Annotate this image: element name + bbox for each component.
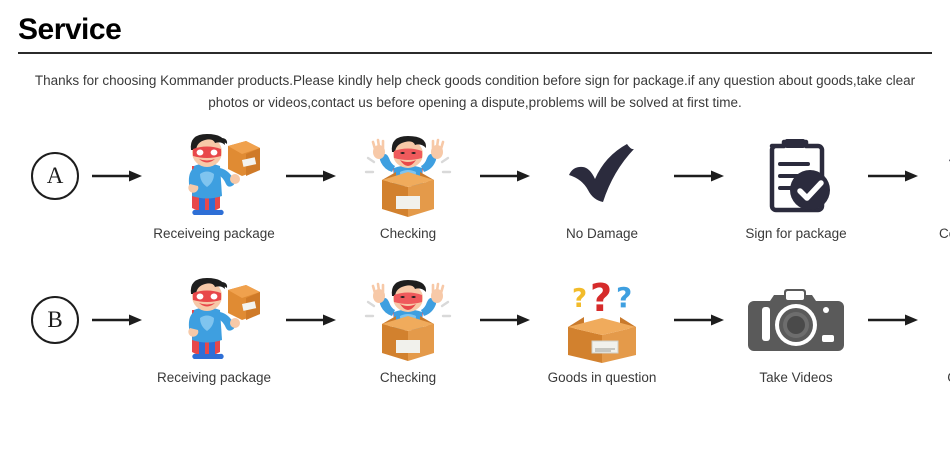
camera-icon — [730, 274, 862, 366]
flow-step-label: Sign for package — [745, 226, 846, 243]
flow-step: Sign for package — [730, 130, 862, 243]
row-a-badge-cell: A — [24, 130, 86, 222]
flow-step-label: Checking — [380, 370, 436, 387]
flow-step: Checking — [342, 274, 474, 387]
service-flow-diagram: A — [0, 130, 950, 406]
flow-step: Checking — [342, 130, 474, 243]
handshake-icon — [924, 130, 950, 222]
superhero-with-box-icon — [148, 130, 280, 222]
intro-paragraph: Thanks for choosing Kommander products.P… — [30, 70, 920, 115]
page-header: Service — [0, 0, 950, 46]
arrow-icon — [862, 274, 924, 366]
flow-step-label: Take Videos — [759, 370, 832, 387]
box-with-question-marks-icon: ? ? ? — [536, 274, 668, 366]
arrow-icon — [474, 130, 536, 222]
flow-step-label: Checking — [380, 226, 436, 243]
arrow-icon — [668, 130, 730, 222]
title-divider — [18, 52, 932, 54]
flow-step: Receiveing package — [148, 130, 280, 243]
arrow-icon — [86, 274, 148, 366]
flow-step: $ $ — [924, 274, 950, 404]
flow-step: Receiving package — [148, 274, 280, 387]
flow-step-label: Receiving package — [157, 370, 271, 387]
arrow-icon — [668, 274, 730, 366]
row-b-badge-cell: B — [24, 274, 86, 366]
intro-line-1: Thanks for choosing Kommander products.P… — [35, 73, 812, 88]
arrow-icon — [280, 130, 342, 222]
arrow-icon — [862, 130, 924, 222]
arrow-icon — [86, 130, 148, 222]
flow-step-label: Goods in question — [548, 370, 657, 387]
flow-row-b: B — [0, 274, 950, 406]
checkmark-icon — [536, 130, 668, 222]
svg-text:?: ? — [616, 281, 632, 314]
flow-step: Confirm the delivery — [924, 130, 950, 243]
row-badge-b: B — [31, 296, 79, 344]
flow-step-label: Receiveing package — [153, 226, 275, 243]
flow-step-label: Confirm the delivery — [939, 226, 950, 243]
page-title: Service — [18, 14, 950, 46]
support-agent-money-icon: $ $ — [924, 274, 950, 366]
arrow-icon — [280, 274, 342, 366]
flow-step: No Damage — [536, 130, 668, 243]
flow-step: ? ? ? Goods — [536, 274, 668, 387]
person-in-open-box-icon — [342, 274, 474, 366]
svg-text:?: ? — [572, 284, 587, 314]
arrow-icon — [474, 274, 536, 366]
flow-row-a: A — [0, 130, 950, 262]
row-badge-a: A — [31, 152, 79, 200]
person-in-open-box-icon — [342, 130, 474, 222]
flow-step: Take Videos — [730, 274, 862, 387]
flow-step-label: No Damage — [566, 226, 638, 243]
superhero-with-box-icon — [148, 274, 280, 366]
svg-text:?: ? — [590, 277, 612, 320]
clipboard-check-icon — [730, 130, 862, 222]
